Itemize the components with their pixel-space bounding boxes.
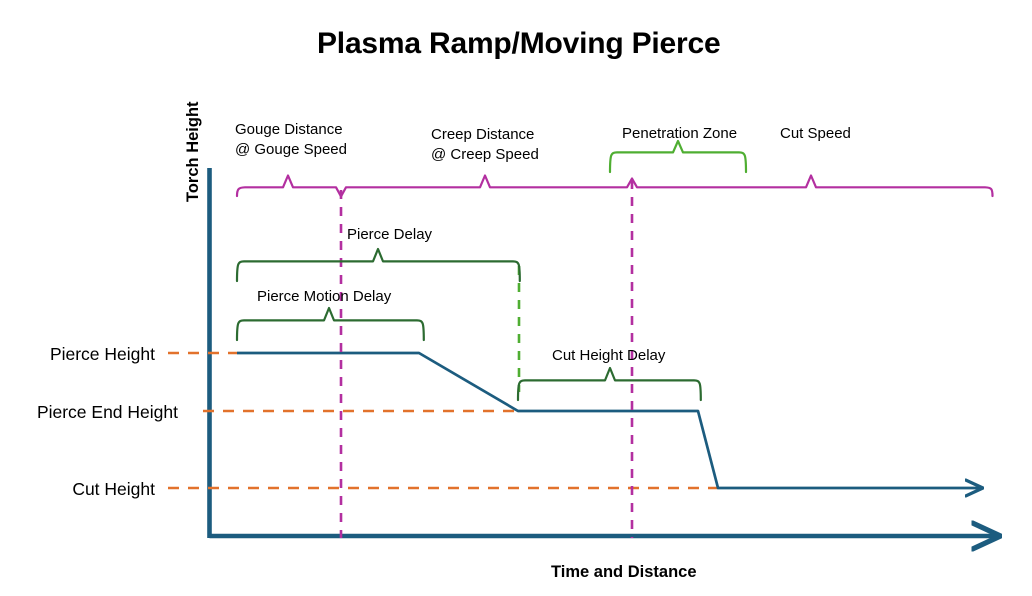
torch-height-profile [237, 353, 982, 488]
level-label-pierce-end-height: Pierce End Height [0, 402, 178, 423]
level-label-cut-height: Cut Height [0, 479, 155, 500]
pierce-motion-delay-bracket [237, 308, 424, 340]
speed-bracket-magenta [237, 176, 993, 197]
y-axis-title: Torch Height [184, 101, 203, 202]
diagram-graphics [0, 0, 1032, 596]
pierce-delay-bracket [237, 249, 520, 281]
cut-height-delay-bracket [518, 368, 701, 400]
annotation-creep-distance-line2: @ Creep Speed [431, 145, 539, 165]
annotation-pierce-delay: Pierce Delay [347, 225, 432, 245]
annotation-cut-speed: Cut Speed [780, 124, 851, 144]
annotation-pierce-motion-delay: Pierce Motion Delay [257, 287, 391, 307]
level-dashed-lines [168, 353, 718, 488]
annotation-penetration-zone: Penetration Zone [622, 124, 737, 144]
penetration-zone-bracket [610, 141, 746, 172]
page-title: Plasma Ramp/Moving Pierce [317, 27, 721, 61]
x-axis-title: Time and Distance [551, 563, 697, 582]
annotation-gouge-distance-line2: @ Gouge Speed [235, 140, 347, 160]
annotation-gouge-distance-line1: Gouge Distance [235, 120, 343, 140]
level-label-pierce-height: Pierce Height [0, 344, 155, 365]
annotation-creep-distance-line1: Creep Distance [431, 125, 534, 145]
diagram-canvas: Plasma Ramp/Moving Pierce Torch Height T… [0, 0, 1032, 596]
annotation-cut-height-delay: Cut Height Delay [552, 346, 665, 366]
